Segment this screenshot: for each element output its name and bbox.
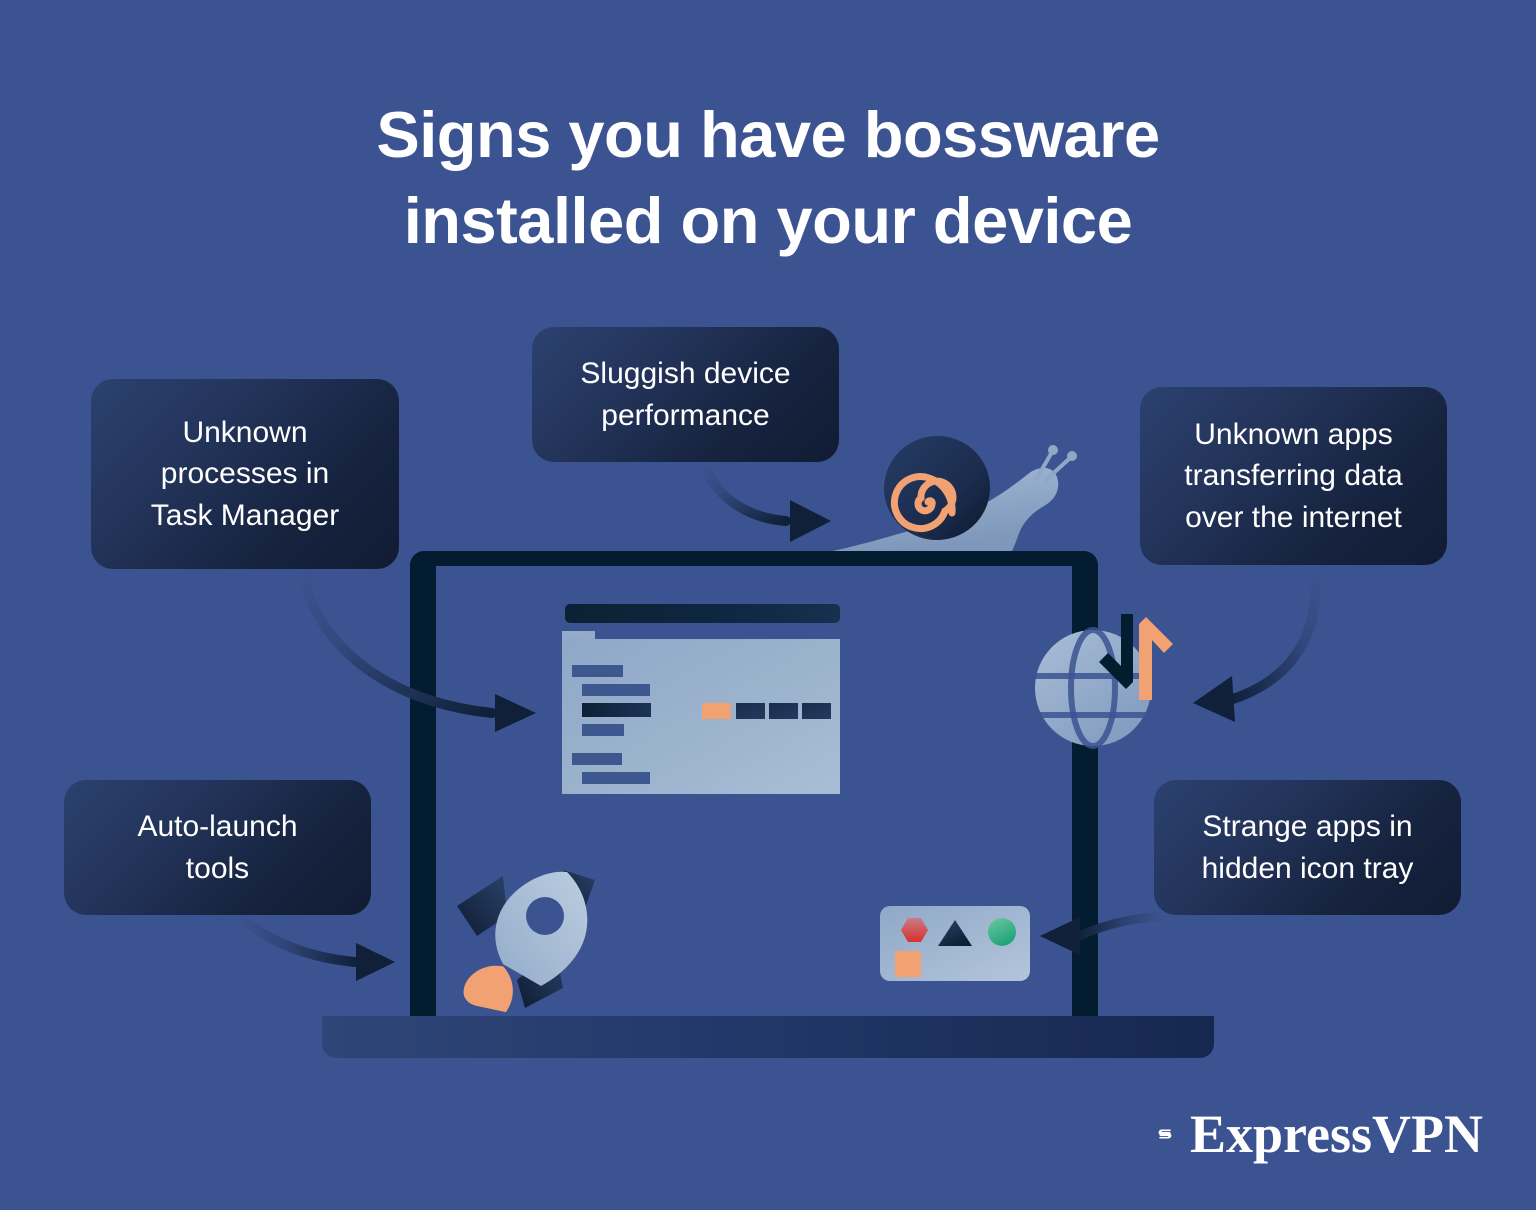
window-chip-highlight bbox=[702, 703, 731, 719]
expressvpn-wordmark: ExpressVPN bbox=[1190, 1107, 1483, 1161]
window-chip bbox=[736, 703, 765, 719]
window-chip bbox=[802, 703, 831, 719]
window-row bbox=[582, 772, 650, 784]
callout-autolaunch[interactable]: Auto-launch tools bbox=[64, 780, 371, 915]
laptop-bezel bbox=[410, 551, 1098, 1031]
square-icon[interactable] bbox=[895, 951, 921, 977]
arrow-autolaunch bbox=[241, 918, 395, 981]
callout-sluggish[interactable]: Sluggish device performance bbox=[532, 327, 839, 462]
window-body bbox=[562, 639, 840, 794]
rocket-fin bbox=[517, 948, 563, 1008]
rocket-body bbox=[495, 872, 587, 986]
globe-download-arrow bbox=[1099, 614, 1133, 689]
snail-body bbox=[833, 468, 1058, 551]
expressvpn-logo[interactable]: ExpressVPN bbox=[1158, 1094, 1483, 1174]
window-tab bbox=[562, 631, 595, 643]
callout-task-manager[interactable]: Unknown processes in Task Manager bbox=[91, 379, 399, 569]
infographic-canvas: Signs you have bossware installed on you… bbox=[0, 0, 1536, 1210]
laptop-illustration bbox=[322, 551, 1214, 1058]
snail-shell bbox=[877, 429, 996, 547]
laptop-screen bbox=[436, 566, 1072, 1018]
rocket-icon bbox=[457, 870, 595, 1013]
icon-tray[interactable] bbox=[880, 906, 1030, 981]
arrow-task-manager bbox=[301, 569, 536, 732]
window-row bbox=[582, 724, 624, 736]
tray-panel bbox=[880, 906, 1030, 981]
window-titlebar bbox=[565, 604, 840, 623]
callout-tray[interactable]: Strange apps in hidden icon tray bbox=[1154, 780, 1461, 915]
globe-sphere bbox=[1035, 630, 1151, 746]
window-row-selected bbox=[582, 703, 651, 717]
laptop-base bbox=[322, 1016, 1214, 1058]
callout-transfer[interactable]: Unknown apps transferring data over the … bbox=[1140, 387, 1447, 565]
task-manager-window[interactable] bbox=[562, 604, 840, 794]
expressvpn-mark-icon bbox=[1158, 1098, 1172, 1170]
globe-icon bbox=[1035, 614, 1173, 746]
arrow-sluggish bbox=[704, 464, 831, 542]
arrow-transfer bbox=[1193, 568, 1316, 722]
arrow-tray bbox=[1040, 916, 1165, 955]
window-chip bbox=[769, 703, 798, 719]
window-row bbox=[582, 684, 650, 696]
hexagon-icon[interactable] bbox=[901, 918, 928, 942]
snail-spiral bbox=[894, 477, 953, 529]
window-row bbox=[572, 753, 622, 765]
rocket-fin bbox=[457, 876, 507, 936]
triangle-icon[interactable] bbox=[938, 920, 972, 946]
window-row bbox=[572, 665, 623, 677]
snail-icon bbox=[833, 429, 1077, 551]
rocket-nose bbox=[563, 870, 595, 914]
rocket-flame bbox=[461, 959, 518, 1012]
circle-icon[interactable] bbox=[988, 918, 1016, 946]
page-title: Signs you have bossware installed on you… bbox=[0, 92, 1536, 264]
rocket-window bbox=[526, 897, 564, 935]
globe-upload-arrow bbox=[1139, 617, 1173, 700]
